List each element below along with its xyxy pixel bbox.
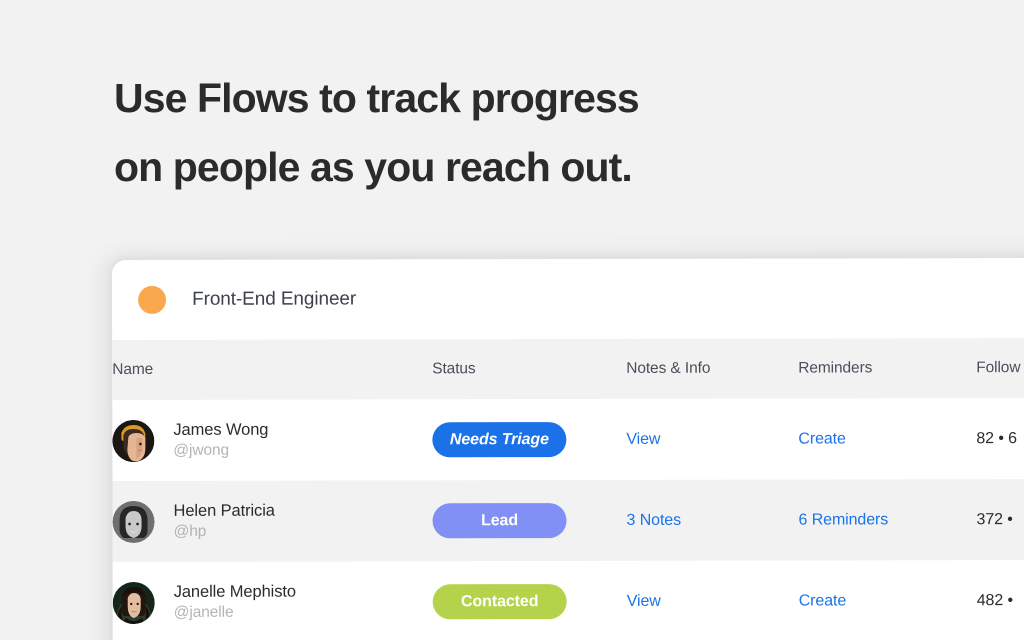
- flow-title: Front-End Engineer: [192, 288, 356, 310]
- reminders-link[interactable]: 6 Reminders: [799, 511, 889, 528]
- page-root: Use Flows to track progress on people as…: [0, 0, 1024, 640]
- cell-followers: 482 •: [977, 560, 1024, 640]
- person-text: Janelle Mephisto @janelle: [174, 582, 296, 623]
- cell-name: James Wong @jwong: [112, 399, 432, 481]
- column-header-followers[interactable]: Follow: [976, 338, 1024, 398]
- table-row[interactable]: Helen Patricia @hp Lead 3 Notes 6 Remind…: [112, 479, 1024, 562]
- avatar-photo-male-icon: [112, 419, 154, 461]
- headline-line-1: Use Flows to track progress: [114, 64, 874, 133]
- cell-reminders: Create: [798, 398, 976, 479]
- cell-reminders: 6 Reminders: [798, 479, 976, 560]
- status-badge[interactable]: Lead: [433, 503, 567, 538]
- avatar-photo-female-icon: [113, 500, 155, 542]
- followers-value: 372 •: [977, 511, 1013, 528]
- avatar[interactable]: [113, 500, 155, 542]
- notes-link[interactable]: View: [626, 430, 660, 447]
- cell-reminders: Create: [799, 560, 977, 640]
- cell-notes: View: [627, 561, 799, 640]
- reminders-link[interactable]: Create: [798, 430, 845, 447]
- person-handle: @janelle: [174, 602, 296, 623]
- flow-card: Front-End Engineer Name Status Notes & I…: [112, 258, 1024, 640]
- column-header-name[interactable]: Name: [112, 339, 432, 400]
- person: James Wong @jwong: [112, 419, 432, 462]
- avatar-photo-woman-icon: [113, 581, 155, 623]
- notes-link[interactable]: View: [627, 592, 661, 609]
- cell-followers: 372 •: [976, 479, 1024, 560]
- flow-color-dot-icon: [138, 286, 166, 314]
- table-row[interactable]: Janelle Mephisto @janelle Contacted View…: [113, 560, 1024, 640]
- column-header-notes[interactable]: Notes & Info: [626, 339, 798, 399]
- person-text: James Wong @jwong: [173, 420, 268, 461]
- cell-status: Needs Triage: [432, 399, 626, 480]
- cell-status: Lead: [432, 480, 626, 561]
- headline-line-2: on people as you reach out.: [114, 133, 874, 202]
- cell-status: Contacted: [433, 561, 627, 640]
- cell-name: Janelle Mephisto @janelle: [113, 561, 433, 640]
- person-name: Janelle Mephisto: [174, 582, 296, 602]
- cell-followers: 82 • 6: [976, 398, 1024, 479]
- column-header-reminders[interactable]: Reminders: [798, 338, 976, 398]
- person-handle: @jwong: [173, 440, 268, 461]
- table-body: James Wong @jwong Needs Triage View Crea…: [112, 398, 1024, 640]
- people-table: Name Status Notes & Info Reminders Follo…: [112, 338, 1024, 640]
- cell-notes: 3 Notes: [626, 480, 798, 561]
- status-badge[interactable]: Needs Triage: [432, 422, 566, 457]
- column-header-status[interactable]: Status: [432, 339, 626, 399]
- cell-notes: View: [626, 399, 798, 480]
- page-headline: Use Flows to track progress on people as…: [114, 64, 874, 202]
- flow-card-header: Front-End Engineer: [112, 258, 1024, 340]
- cell-name: Helen Patricia @hp: [112, 480, 432, 562]
- person-name: Helen Patricia: [174, 501, 275, 521]
- table-row[interactable]: James Wong @jwong Needs Triage View Crea…: [112, 398, 1024, 481]
- reminders-link[interactable]: Create: [799, 592, 846, 609]
- person: Janelle Mephisto @janelle: [113, 581, 433, 624]
- avatar[interactable]: [112, 419, 154, 461]
- notes-link[interactable]: 3 Notes: [627, 511, 681, 528]
- person-handle: @hp: [174, 521, 275, 542]
- followers-value: 482 •: [977, 592, 1013, 609]
- table-header-row: Name Status Notes & Info Reminders Follo…: [112, 338, 1024, 400]
- followers-value: 82 • 6: [976, 430, 1017, 447]
- person-name: James Wong: [173, 420, 268, 440]
- avatar[interactable]: [113, 581, 155, 623]
- table-header: Name Status Notes & Info Reminders Follo…: [112, 338, 1024, 400]
- status-badge[interactable]: Contacted: [433, 584, 567, 619]
- person: Helen Patricia @hp: [113, 500, 433, 543]
- person-text: Helen Patricia @hp: [174, 501, 275, 542]
